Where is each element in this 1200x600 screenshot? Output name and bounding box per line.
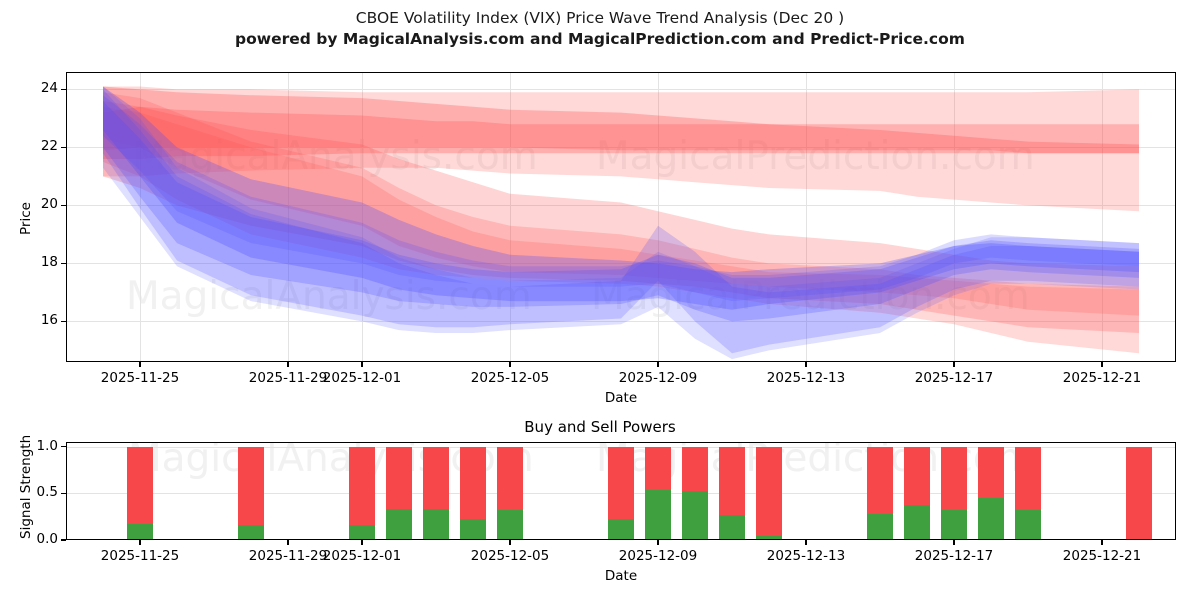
sell-power-segment: [497, 447, 523, 510]
buy-power-segment: [127, 524, 153, 540]
sell-power-segment: [941, 447, 967, 510]
signal-xtick-label: 2025-12-01: [302, 548, 422, 564]
signal-xtick: [1101, 540, 1102, 545]
price-band-layer: [66, 72, 1176, 362]
signal-xtick-label: 2025-12-05: [450, 548, 570, 564]
buy-sell-plot-area: MagicalAnalysis.comMagicalPrediction.com: [66, 442, 1176, 540]
price-ytick-label: 16: [14, 312, 58, 328]
buy-sell-powers-chart: MagicalAnalysis.comMagicalPrediction.com: [66, 442, 1176, 540]
buy-power-segment: [497, 510, 523, 540]
buy-power-segment: [645, 490, 671, 540]
price-xtick-label: 2025-12-01: [302, 370, 422, 386]
signal-bar[interactable]: [756, 442, 782, 540]
sell-power-segment: [719, 447, 745, 515]
buy-power-segment: [608, 519, 634, 540]
buy-sell-title: Buy and Sell Powers: [0, 418, 1200, 436]
buy-power-segment: [682, 491, 708, 540]
signal-bar[interactable]: [127, 442, 153, 540]
price-xtick-label: 2025-12-17: [894, 370, 1014, 386]
signal-bar[interactable]: [682, 442, 708, 540]
buy-power-segment: [719, 515, 745, 540]
price-xtick: [509, 362, 510, 367]
signal-bar[interactable]: [497, 442, 523, 540]
price-xtick: [953, 362, 954, 367]
price-ytick: [61, 89, 66, 90]
signal-xaxis-title: Date: [66, 568, 1176, 584]
price-xtick: [361, 362, 362, 367]
signal-bar[interactable]: [349, 442, 375, 540]
signal-bar[interactable]: [238, 442, 264, 540]
chart-title-block: CBOE Volatility Index (VIX) Price Wave T…: [0, 8, 1200, 50]
price-xtick: [657, 362, 658, 367]
price-ytick: [61, 321, 66, 322]
signal-xtick: [509, 540, 510, 545]
price-xtick: [287, 362, 288, 367]
buy-power-segment: [349, 525, 375, 540]
sell-power-segment: [867, 447, 893, 514]
signal-xtick: [287, 540, 288, 545]
buy-power-segment: [386, 509, 412, 540]
signal-bar[interactable]: [719, 442, 745, 540]
price-ytick: [61, 263, 66, 264]
sell-power-segment: [127, 447, 153, 524]
price-xtick-label: 2025-12-09: [598, 370, 718, 386]
buy-power-segment: [941, 510, 967, 540]
sell-power-segment: [645, 447, 671, 490]
signal-ytick: [61, 493, 66, 494]
page-title: CBOE Volatility Index (VIX) Price Wave T…: [0, 8, 1200, 29]
sell-power-segment: [423, 447, 449, 510]
price-ytick: [61, 205, 66, 206]
sell-power-segment: [238, 447, 264, 525]
sell-power-segment: [1015, 447, 1041, 510]
sell-power-segment: [978, 447, 1004, 498]
signal-bar[interactable]: [978, 442, 1004, 540]
buy-power-segment: [238, 525, 264, 540]
signal-bar[interactable]: [423, 442, 449, 540]
price-ytick-label: 18: [14, 254, 58, 270]
signal-yaxis-title: Signal Strength: [18, 435, 34, 539]
signal-bar[interactable]: [460, 442, 486, 540]
buy-power-segment: [756, 536, 782, 540]
signal-xtick-label: 2025-11-25: [80, 548, 200, 564]
signal-xtick-label: 2025-12-13: [746, 548, 866, 564]
price-xaxis-title: Date: [66, 390, 1176, 406]
price-xtick-label: 2025-11-25: [80, 370, 200, 386]
buy-power-segment: [1015, 510, 1041, 540]
signal-xtick: [657, 540, 658, 545]
buy-power-segment: [904, 505, 930, 540]
signal-bar[interactable]: [386, 442, 412, 540]
price-ytick: [61, 147, 66, 148]
signal-bar[interactable]: [941, 442, 967, 540]
price-ytick-label: 24: [14, 80, 58, 96]
buy-power-segment: [460, 519, 486, 540]
signal-xtick: [139, 540, 140, 545]
sell-power-segment: [460, 447, 486, 520]
price-ytick-label: 22: [14, 138, 58, 154]
price-xtick: [139, 362, 140, 367]
price-xtick-label: 2025-12-13: [746, 370, 866, 386]
signal-bar[interactable]: [608, 442, 634, 540]
buy-power-segment: [423, 509, 449, 540]
signal-bar[interactable]: [645, 442, 671, 540]
signal-xtick: [805, 540, 806, 545]
signal-bar[interactable]: [904, 442, 930, 540]
signal-bar[interactable]: [1126, 442, 1152, 540]
signal-xtick-label: 2025-12-17: [894, 548, 1014, 564]
signal-xtick-label: 2025-12-21: [1042, 548, 1162, 564]
signal-ytick: [61, 446, 66, 447]
sell-power-segment: [386, 447, 412, 510]
price-wave-trend-chart: MagicalAnalysis.comMagicalPrediction.com…: [66, 72, 1176, 362]
price-xtick: [805, 362, 806, 367]
buy-power-segment: [978, 498, 1004, 540]
signal-ytick: [61, 539, 66, 540]
signal-xtick: [953, 540, 954, 545]
buy-power-segment: [867, 514, 893, 540]
sell-power-segment: [682, 447, 708, 491]
sell-power-segment: [1126, 447, 1152, 540]
signal-bar[interactable]: [1015, 442, 1041, 540]
signal-xtick-label: 2025-12-09: [598, 548, 718, 564]
page-subtitle: powered by MagicalAnalysis.com and Magic…: [0, 29, 1200, 50]
price-plot-area: MagicalAnalysis.comMagicalPrediction.com…: [66, 72, 1176, 362]
sell-power-segment: [756, 447, 782, 537]
price-xtick: [1101, 362, 1102, 367]
sell-power-segment: [904, 447, 930, 505]
sell-power-segment: [349, 447, 375, 525]
signal-xtick: [361, 540, 362, 545]
chart-page: CBOE Volatility Index (VIX) Price Wave T…: [0, 0, 1200, 600]
sell-power-segment: [608, 447, 634, 520]
price-xtick-label: 2025-12-05: [450, 370, 570, 386]
price-xtick-label: 2025-12-21: [1042, 370, 1162, 386]
signal-bar[interactable]: [867, 442, 893, 540]
price-yaxis-title: Price: [18, 202, 34, 235]
